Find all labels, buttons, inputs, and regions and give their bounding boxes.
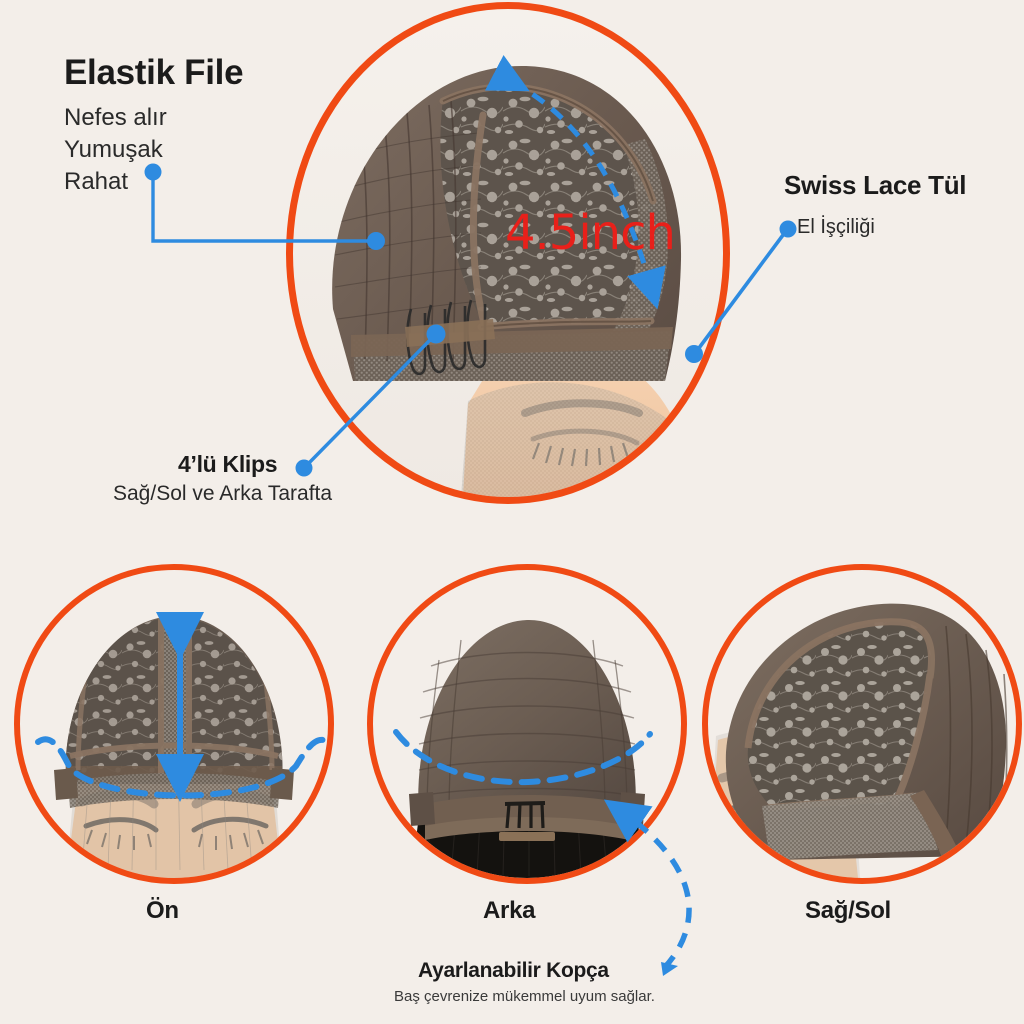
measurement-label: 4.5inch	[505, 205, 675, 261]
back-circumference-dashed-arc	[396, 732, 650, 782]
callout-line-breathable: Nefes alır	[64, 104, 167, 132]
callout-title-elastic-mesh: Elastik File	[64, 53, 243, 93]
callout-sub-adjustable-strap: Baş çevrenize mükemmel uyum sağlar.	[394, 988, 655, 1005]
view-label-back: Arka	[483, 897, 535, 925]
adjustable-strap-pointer	[622, 812, 689, 976]
leader-line-elastic-mesh	[145, 164, 386, 251]
leader-line-clips	[296, 325, 446, 477]
callout-line-comfortable: Rahat	[64, 168, 128, 196]
view-label-front: Ön	[146, 897, 179, 925]
callout-title-swiss-lace: Swiss Lace Tül	[784, 170, 966, 201]
view-label-side: Sağ/Sol	[805, 897, 891, 925]
callout-sub-swiss-lace: El İşçiliği	[797, 216, 875, 239]
leader-line-swiss-lace	[685, 221, 797, 364]
callout-title-clips: 4’lü Klips	[178, 451, 277, 478]
callout-line-soft: Yumuşak	[64, 136, 163, 164]
infographic-canvas: Elastik File Nefes alır Yumuşak Rahat Sw…	[0, 0, 1024, 1024]
callout-sub-clips: Sağ/Sol ve Arka Tarafta	[113, 482, 332, 506]
callout-title-adjustable-strap: Ayarlanabilir Kopça	[418, 959, 609, 983]
